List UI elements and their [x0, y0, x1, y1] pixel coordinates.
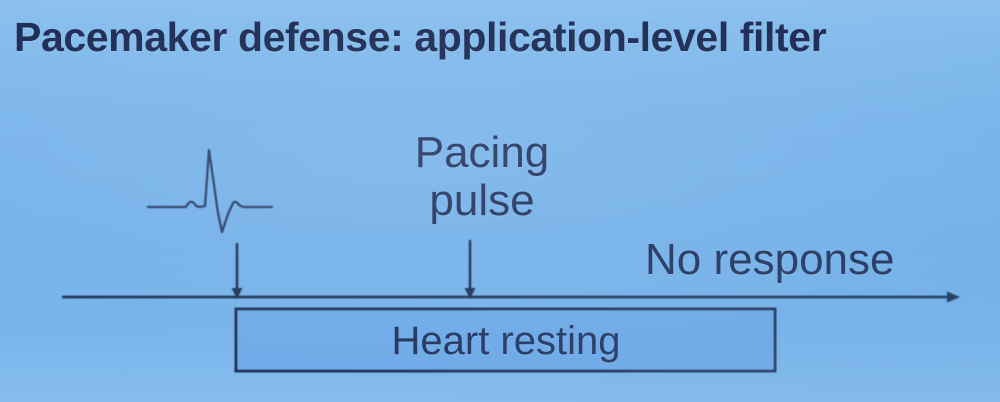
pacing-pulse-label-line2: pulse: [412, 177, 552, 225]
pacing-pulse-arrow: [465, 240, 476, 299]
ecg-waveform: [148, 150, 272, 232]
pacing-pulse-label: Pacing pulse: [412, 129, 552, 225]
pacing-pulse-label-line1: Pacing: [415, 128, 550, 177]
slide-canvas: Pacemaker defense: application-level fil…: [0, 0, 1000, 402]
no-response-label: No response: [645, 236, 894, 284]
heart-resting-label: Heart resting: [236, 310, 776, 372]
timeline-axis: [62, 292, 960, 303]
intrinsic-beat-arrow: [232, 243, 243, 299]
